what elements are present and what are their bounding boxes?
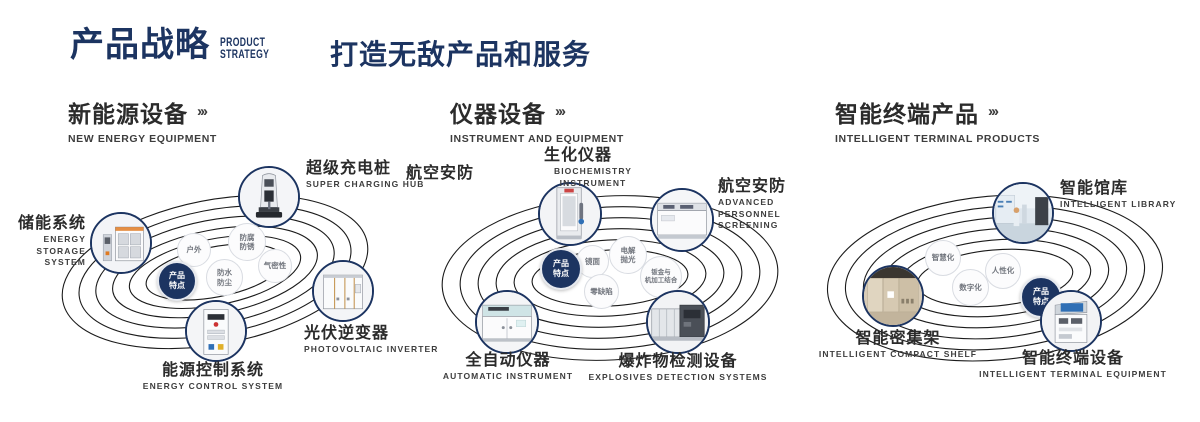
core-badge-product-features: 产品 特点 — [157, 261, 197, 301]
section-title-instrument: 仪器设备››› INSTRUMENT AND EQUIPMENT — [450, 95, 624, 145]
feature-label-2: 抛光 — [621, 255, 636, 264]
caption-cn: 能源控制系统 — [88, 362, 338, 380]
feature-label: 钣金与 — [651, 269, 671, 277]
caption-en: INTELLIGENT COMPACT SHELF — [818, 349, 978, 360]
node-intelligent-terminal-equipment[interactable] — [1040, 290, 1102, 352]
section-title-en: INTELLIGENT TERMINAL PRODUCTS — [835, 133, 1040, 145]
caption-en: INTELLIGENT LIBRARY — [1060, 199, 1176, 210]
feature-bubble: 智慧化 — [925, 240, 961, 276]
caption-cn: 储能系统 — [8, 215, 86, 233]
caption-intelligent-library: 智能馆库 INTELLIGENT LIBRARY — [1060, 180, 1176, 211]
feature-bubble: 防水 防尘 — [206, 259, 243, 296]
caption-biochemistry-instrument: 生化仪器 BIOCHEMISTRY INSTRUMENT — [538, 147, 658, 189]
section-title-intelligent-terminal: 智能终端产品››› INTELLIGENT TERMINAL PRODUCTS — [835, 95, 1040, 145]
node-intelligent-compact-shelf[interactable] — [862, 265, 924, 327]
node-energy-control-system[interactable] — [185, 300, 247, 362]
caption-automatic-instrument: 全自动仪器 AUTOMATIC INSTRUMENT — [408, 352, 608, 383]
caption-en: ENERGY STORAGE SYSTEM — [8, 234, 86, 268]
page-title-en-line2: STRATEGY — [220, 48, 306, 60]
core-label-line2: 特点 — [169, 281, 185, 291]
node-biochemistry-instrument[interactable] — [538, 182, 602, 246]
caption-explosives-detection: 爆炸物检测设备 EXPLOSIVES DETECTION SYSTEMS — [578, 353, 778, 384]
feature-label: 气密性 — [264, 261, 287, 270]
tagline: 打造无敌产品和服务 — [330, 33, 591, 73]
automatic-analyzer-icon — [477, 292, 537, 352]
charging-pile-icon — [240, 168, 298, 226]
caption-en: BIOCHEMISTRY INSTRUMENT — [528, 166, 658, 189]
caption-intelligent-compact-shelf: 智能密集架 INTELLIGENT COMPACT SHELF — [818, 330, 978, 361]
feature-label: 电解 — [621, 246, 636, 255]
product-strategy-infographic: 产品战略 PRODUCT STRATEGY 打造无敌产品和服务 新能源设备›››… — [0, 0, 1200, 422]
caption-intelligent-terminal-equipment: 智能终端设备 INTELLIGENT TERMINAL EQUIPMENT — [978, 350, 1168, 381]
core-badge-product-features: 产品 特点 — [540, 248, 582, 290]
feature-label: 数字化 — [959, 283, 982, 292]
caption-aviation-security-left: 航空安防 — [406, 165, 474, 183]
caption-cn: 爆炸物检测设备 — [578, 353, 778, 371]
caption-en: INTELLIGENT TERMINAL EQUIPMENT — [978, 369, 1168, 380]
biochem-scanner-icon — [540, 184, 600, 244]
feature-label: 零缺陷 — [590, 287, 613, 296]
core-label-line1: 产品 — [169, 271, 185, 281]
chevron-right-icon: ››› — [555, 103, 564, 120]
chevron-right-icon: ››› — [197, 103, 206, 120]
inverter-cabinet-icon — [314, 262, 372, 320]
chevron-right-icon: ››› — [988, 103, 997, 120]
cluster-instruments: 镜面 电解 抛光 零缺陷 钣金与 机加工结合 产品 特点 航空安防 — [400, 150, 820, 410]
section-title-en: INSTRUMENT AND EQUIPMENT — [450, 133, 624, 145]
section-title-en: NEW ENERGY EQUIPMENT — [68, 133, 217, 145]
battery-cabinet-icon — [92, 214, 150, 272]
feature-label: 防腐 — [240, 233, 255, 242]
section-title-new-energy: 新能源设备››› NEW ENERGY EQUIPMENT — [68, 95, 217, 145]
page-title: 产品战略 — [70, 28, 210, 62]
caption-cn: 智能终端设备 — [978, 350, 1168, 368]
control-cabinet-icon — [187, 302, 245, 360]
cluster-intelligent-terminal: 智慧化 数字化 人性化 产品 特点 — [790, 150, 1200, 410]
node-intelligent-library[interactable] — [992, 182, 1054, 244]
feature-label-2: 防尘 — [217, 278, 232, 287]
section-title-cn: 智能终端产品 — [835, 95, 979, 129]
caption-cn: 智能馆库 — [1060, 180, 1176, 198]
caption-energy-storage: 储能系统 ENERGY STORAGE SYSTEM — [8, 215, 86, 269]
node-advanced-personnel-screening[interactable] — [650, 188, 714, 252]
section-title-cn: 仪器设备 — [450, 95, 546, 129]
library-room-icon — [994, 184, 1052, 242]
feature-bubble: 人性化 — [985, 253, 1021, 289]
caption-energy-control-system: 能源控制系统 ENERGY CONTROL SYSTEM — [88, 362, 338, 393]
feature-label-2: 防锈 — [240, 242, 255, 251]
caption-cn: 全自动仪器 — [408, 352, 608, 370]
node-explosives-detection[interactable] — [646, 290, 710, 354]
node-super-charging-hub[interactable] — [238, 166, 300, 228]
caption-en: EXPLOSIVES DETECTION SYSTEMS — [578, 372, 778, 383]
explosives-detector-icon — [648, 292, 708, 352]
node-photovoltaic-inverter[interactable] — [312, 260, 374, 322]
kiosk-terminal-icon — [1042, 292, 1100, 350]
feature-label: 人性化 — [992, 266, 1015, 275]
header: 产品战略 PRODUCT STRATEGY — [70, 28, 340, 62]
screening-machine-icon — [652, 190, 712, 250]
compact-shelf-icon — [864, 267, 922, 325]
feature-label: 防水 — [217, 268, 232, 277]
feature-label: 智慧化 — [932, 253, 955, 262]
section-title-cn: 新能源设备 — [68, 95, 188, 129]
feature-label: 户外 — [187, 245, 202, 254]
core-label-line2: 特点 — [553, 269, 569, 279]
core-label-line1: 产品 — [553, 259, 569, 269]
feature-bubble: 零缺陷 — [584, 274, 619, 309]
caption-en: ENERGY CONTROL SYSTEM — [88, 381, 338, 392]
node-automatic-instrument[interactable] — [475, 290, 539, 354]
caption-cn: 航空安防 — [406, 165, 474, 183]
caption-cn: 智能密集架 — [818, 330, 978, 348]
node-energy-storage[interactable] — [90, 212, 152, 274]
caption-en: AUTOMATIC INSTRUMENT — [408, 371, 608, 382]
caption-cn: 生化仪器 — [498, 147, 658, 165]
feature-label: 镜面 — [585, 257, 600, 266]
feature-bubble: 气密性 — [258, 249, 292, 283]
cluster-new-energy: 户外 防腐 防锈 防水 防尘 气密性 产品 特点 — [0, 150, 420, 410]
feature-bubble: 数字化 — [952, 269, 989, 306]
page-title-english: PRODUCT STRATEGY — [220, 36, 306, 60]
feature-label-2: 机加工结合 — [645, 277, 678, 285]
